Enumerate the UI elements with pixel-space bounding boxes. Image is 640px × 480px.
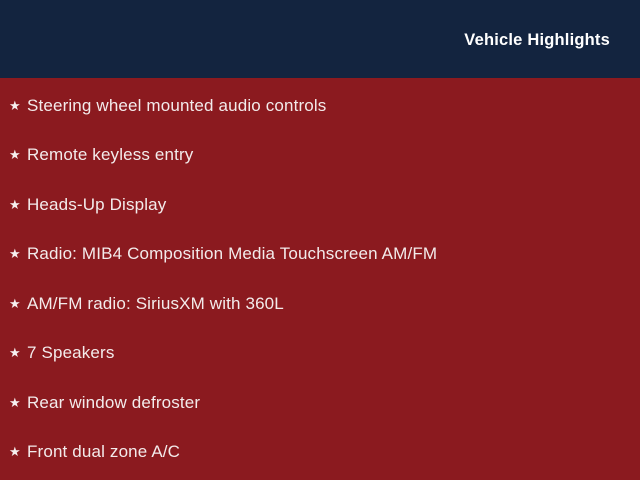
list-item: ★ 7 Speakers <box>9 341 115 365</box>
page-title: Vehicle Highlights <box>464 32 610 49</box>
list-item: ★ Rear window defroster <box>9 390 200 414</box>
star-bullet-icon: ★ <box>9 148 27 161</box>
vehicle-highlights-slide: Vehicle Highlights ★ Steering wheel moun… <box>0 0 640 480</box>
highlights-body: ★ Steering wheel mounted audio controls … <box>0 78 640 480</box>
star-bullet-icon: ★ <box>9 297 27 310</box>
star-bullet-icon: ★ <box>9 99 27 112</box>
star-bullet-icon: ★ <box>9 247 27 260</box>
highlight-label: Front dual zone A/C <box>27 443 180 460</box>
list-item: ★ Front dual zone A/C <box>9 440 180 464</box>
highlight-label: AM/FM radio: SiriusXM with 360L <box>27 295 284 312</box>
list-item: ★ Steering wheel mounted audio controls <box>9 93 326 117</box>
highlight-label: Heads-Up Display <box>27 196 166 213</box>
highlight-label: Remote keyless entry <box>27 146 193 163</box>
highlight-label: Rear window defroster <box>27 394 200 411</box>
list-item: ★ Remote keyless entry <box>9 143 193 167</box>
highlight-label: Steering wheel mounted audio controls <box>27 97 326 114</box>
list-item: ★ Radio: MIB4 Composition Media Touchscr… <box>9 242 437 266</box>
list-item: ★ AM/FM radio: SiriusXM with 360L <box>9 291 284 315</box>
star-bullet-icon: ★ <box>9 396 27 409</box>
list-item: ★ Heads-Up Display <box>9 192 166 216</box>
star-bullet-icon: ★ <box>9 346 27 359</box>
star-bullet-icon: ★ <box>9 198 27 211</box>
highlight-label: Radio: MIB4 Composition Media Touchscree… <box>27 245 437 262</box>
header-band: Vehicle Highlights <box>0 0 640 78</box>
star-bullet-icon: ★ <box>9 445 27 458</box>
highlight-label: 7 Speakers <box>27 344 115 361</box>
